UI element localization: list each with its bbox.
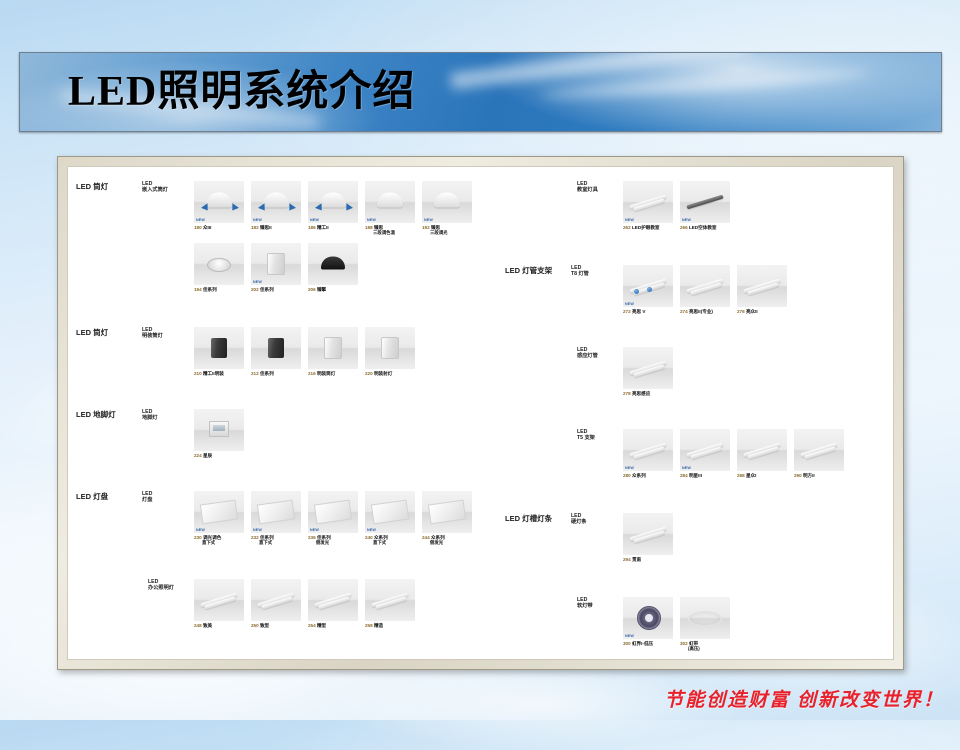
poster-frame: LED 筒灯LED嵌入式筒灯NEW180 众IIINEW182 臻思IINEW1… [57,156,904,670]
product-number: 278 [623,391,631,396]
group-header: LED 灯槽灯条LED硬灯条 [505,513,623,524]
product-thumbnail[interactable]: NEW [365,491,415,533]
product-cell[interactable]: NEW240 众系列直下式 [365,491,415,546]
subcategory-title: LED嵌入式筒灯 [142,181,168,193]
product-caption: 276 亮众II [737,309,787,314]
category-title: LED 筒灯 [76,181,194,192]
product-name: 精型 [317,623,326,628]
product-thumbnail[interactable]: NEW [680,429,730,471]
new-badge: NEW [682,466,691,470]
product-cell[interactable]: 210 精工II明装 [194,327,244,376]
product-row: 224 星辰 [194,409,244,458]
product-cell[interactable]: NEW192 臻思三段调光 [422,181,472,236]
product-name: 臻擎 [317,287,326,292]
category-title: LED 筒灯 [76,327,194,338]
product-thumbnail[interactable] [680,597,730,639]
product-row: 294 贯南 [623,513,673,562]
title-banner: LED照明系统介绍 [19,52,942,132]
group-header: LED 筒灯LED嵌入式筒灯 [76,181,194,192]
subcategory-line-2: T8 灯管 [571,271,589,277]
product-thumbnail[interactable] [194,579,244,621]
arrow-icon [286,203,296,213]
product-name: LED护眼教室 [632,225,660,230]
product-cell[interactable]: 244 众系列侧发光 [422,491,472,546]
poster-catalog: LED 筒灯LED嵌入式筒灯NEW180 众IIINEW182 臻思IINEW1… [67,166,894,660]
product-number: 266 [680,225,688,230]
product-name: 臻思II [260,225,272,230]
product-caption: 186 精工II [308,225,358,230]
product-caption: 266 LED空体教室 [680,225,730,230]
product-number: 188 [365,225,373,230]
product-number: 254 [308,623,316,628]
subcategory-line-2: 软灯带 [577,603,593,609]
product-name: 精工II明装 [203,371,224,376]
product-name: 明装筒灯 [317,371,335,376]
product-number: 186 [308,225,316,230]
product-number: 294 [623,557,631,562]
downlight-glyph [434,193,460,208]
product-thumbnail[interactable] [365,579,415,621]
product-number: 250 [251,623,259,628]
product-cell[interactable]: 278 亮思感应 [623,347,673,396]
product-cell[interactable]: 194 佳系列 [194,243,244,292]
product-name: 贯南 [632,557,641,562]
product-cell[interactable]: 250 致型 [251,579,301,628]
product-caption: 202 佳系列 [251,287,301,292]
category-title: LED 灯盘 [76,491,194,502]
product-caption-second-line: (高压) [688,646,730,651]
product-name: 众系列 [632,473,646,478]
group-header: LED 灯盘LED灯盘 [76,491,194,502]
product-thumbnail[interactable]: NEW [623,181,673,223]
product-caption: 224 星辰 [194,453,244,458]
product-thumbnail[interactable]: NEW [365,181,415,223]
product-number: 284 [680,473,688,478]
new-badge: NEW [253,280,262,284]
product-caption: 212 佳系列 [251,371,301,376]
reflector-glyph [207,258,231,272]
product-caption: 272 亮思 V [623,309,673,314]
product-caption-second-line: 侧发光 [430,540,472,545]
group-header: LED 筒灯LED明装筒灯 [76,327,194,338]
downlight-glyph [263,193,289,208]
product-thumbnail[interactable]: NEW [251,181,301,223]
product-caption-second-line: 三段调光 [430,230,472,235]
product-caption: 254 精型 [308,623,358,628]
subcategory-title: LED灯盘 [142,491,152,503]
product-number: 192 [422,225,430,230]
product-thumbnail[interactable] [422,491,472,533]
product-name: 致型 [260,623,269,628]
product-caption-second-line: 直下式 [373,540,415,545]
product-cell[interactable]: NEW262 LED护眼教室 [623,181,673,230]
product-row: NEW262 LED护眼教室NEW266 LED空体教室 [623,181,730,230]
tube-glyph [686,195,724,210]
subcategory-title: LED软灯带 [577,597,593,609]
product-caption: 250 致型 [251,623,301,628]
product-thumbnail[interactable]: NEW [623,265,673,307]
product-name: 虹界I-低压 [632,641,653,646]
product-thumbnail[interactable]: NEW [308,181,358,223]
step-light-glyph [209,421,229,437]
product-name: 佳系列 [260,371,274,376]
subcategory-line-2: T5 支架 [577,435,595,441]
product-name: 亮思II(专业) [689,309,713,314]
product-thumbnail[interactable] [194,409,244,451]
product-number: 210 [194,371,202,376]
product-caption-second-line: 侧发光 [316,540,358,545]
product-cell[interactable]: 224 星辰 [194,409,244,458]
product-caption-second-line: 直下式 [202,540,244,545]
product-thumbnail[interactable]: NEW [308,491,358,533]
product-number: 230 [194,535,202,540]
product-caption-second-line: 三段调色温 [373,230,415,235]
new-badge: NEW [625,466,634,470]
product-row: NEW272 亮思 V274 亮思II(专业)276 亮众II [623,265,787,314]
product-name: 亮思 V [632,309,646,314]
cloud-wisp-2 [540,68,870,101]
product-cell[interactable]: NEW232 佳系列直下式 [251,491,301,546]
product-number: 240 [365,535,373,540]
product-thumbnail[interactable] [794,429,844,471]
product-caption: 182 臻思II [251,225,301,230]
product-cell[interactable]: NEW236 佳系列侧发光 [308,491,358,546]
new-badge: NEW [367,528,376,532]
product-number: 194 [194,287,202,292]
product-name: 精工II [317,225,329,230]
product-name: 精造 [374,623,383,628]
product-row: 194 佳系列NEW202 佳系列206 臻擎 [194,243,358,292]
panel-glyph [428,500,466,525]
product-name: 明星III [689,473,702,478]
product-name: 众III [203,225,211,230]
cylinder-glyph [324,337,342,359]
product-name: 星辰 [203,453,212,458]
category-title: LED 灯管支架 [505,265,623,276]
product-row: NEW280 众系列NEW284 明星III288 星众I290 明方II [623,429,844,478]
product-number: 202 [251,287,259,292]
product-caption: 294 贯南 [623,557,673,562]
product-cell[interactable]: 290 明方II [794,429,844,478]
product-caption: 206 臻擎 [308,287,358,292]
product-row: NEW230 调光调色直下式NEW232 佳系列直下式NEW236 佳系列侧发光… [194,491,472,546]
group-header: LED 地脚灯LED地脚灯 [76,409,194,420]
product-thumbnail[interactable]: NEW [680,181,730,223]
product-thumbnail[interactable] [251,579,301,621]
product-caption-second-line: 直下式 [259,540,301,545]
product-number: 206 [308,287,316,292]
new-badge: NEW [310,528,319,532]
product-caption: 216 明装筒灯 [308,371,358,376]
cylinder-glyph [268,338,284,358]
product-cell[interactable]: NEW180 众III [194,181,244,236]
subcategory-line-2: 感应灯管 [577,353,598,359]
product-caption: 258 精造 [365,623,415,628]
product-cell[interactable]: NEW284 明星III [680,429,730,478]
product-cell[interactable]: 254 精型 [308,579,358,628]
product-thumbnail[interactable] [194,243,244,285]
product-number: 290 [794,473,802,478]
product-name: 亮众II [746,309,758,314]
product-thumbnail[interactable] [251,327,301,369]
product-thumbnail[interactable] [308,243,358,285]
product-caption: 300 虹界I-低压 [623,641,673,646]
product-cell[interactable]: 302 虹带(高压) [680,597,730,652]
subcategory-line-2: 办公照明灯 [148,585,174,591]
product-caption: 194 佳系列 [194,287,244,292]
new-badge: NEW [253,528,262,532]
arrow-icon [229,203,239,213]
product-number: 274 [680,309,688,314]
product-row: NEW180 众IIINEW182 臻思IINEW186 精工IINEW188 … [194,181,472,236]
product-thumbnail[interactable] [194,327,244,369]
product-row: 210 精工II明装212 佳系列216 明装筒灯220 明装射灯 [194,327,415,376]
new-badge: NEW [682,218,691,222]
subcategory-title: LED教室灯具 [577,181,598,193]
product-number: 182 [251,225,259,230]
product-cell[interactable]: NEW182 臻思II [251,181,301,236]
product-number: 216 [308,371,316,376]
product-cell[interactable]: NEW300 虹界I-低压 [623,597,673,652]
product-cell[interactable]: NEW272 亮思 V [623,265,673,314]
subcategory-line-2: 硬灯条 [571,519,587,525]
product-row: 248 致美250 致型254 精型258 精造 [194,579,415,628]
cylinder-glyph [381,337,399,359]
product-cell[interactable]: NEW186 精工II [308,181,358,236]
product-caption: 262 LED护眼教室 [623,225,673,230]
new-badge: NEW [253,218,262,222]
product-thumbnail[interactable] [623,347,673,389]
product-number: 302 [680,641,688,646]
product-name: LED空体教室 [689,225,717,230]
product-cell[interactable]: 294 贯南 [623,513,673,562]
product-cell[interactable]: NEW202 佳系列 [251,243,301,292]
new-badge: NEW [310,218,319,222]
downlight-glyph [320,193,346,208]
product-cell[interactable]: 216 明装筒灯 [308,327,358,376]
category-title: LED 灯槽灯条 [505,513,623,524]
group-header: LED 灯管支架LEDT8 灯管 [505,265,623,276]
panel-glyph [200,500,238,525]
subcategory-title: LEDT5 支架 [577,429,595,441]
panel-glyph [314,500,352,525]
product-row: NEW300 虹界I-低压302 虹带(高压) [623,597,730,652]
panel-glyph [371,500,409,525]
downlight-glyph [377,193,403,208]
product-number: 244 [422,535,430,540]
product-name: 致美 [203,623,212,628]
subcategory-title: LED明装筒灯 [142,327,163,339]
product-caption: 220 明装射灯 [365,371,415,376]
arrow-icon [343,203,353,213]
product-thumbnail[interactable]: NEW [251,243,301,285]
product-cell[interactable]: 288 星众I [737,429,787,478]
product-name: 明装射灯 [374,371,392,376]
product-cell[interactable]: 258 精造 [365,579,415,628]
product-thumbnail[interactable]: NEW [422,181,472,223]
downlight-glyph [206,193,232,208]
subcategory-line-2: 明装筒灯 [142,333,163,339]
product-number: 236 [308,535,316,540]
cylinder-glyph [267,253,285,275]
product-row: 278 亮思感应 [623,347,673,396]
subcategory-title: LED办公照明灯 [148,579,174,591]
product-caption: 248 致美 [194,623,244,628]
new-badge: NEW [367,218,376,222]
product-caption: 278 亮思感应 [623,391,673,396]
product-cell[interactable]: 276 亮众II [737,265,787,314]
product-thumbnail[interactable]: NEW [623,597,673,639]
product-caption: 288 星众I [737,473,787,478]
product-number: 220 [365,371,373,376]
product-thumbnail[interactable] [680,265,730,307]
new-badge: NEW [625,634,634,638]
product-thumbnail[interactable] [308,327,358,369]
product-number: 300 [623,641,631,646]
subcategory-line-2: 地脚灯 [142,415,158,421]
footer-slogan: 节能创造财富 创新改变世界！ [664,685,944,712]
product-name: 亮思感应 [632,391,650,396]
new-badge: NEW [625,302,634,306]
product-thumbnail[interactable] [365,327,415,369]
product-number: 276 [737,309,745,314]
product-thumbnail[interactable]: NEW [623,429,673,471]
product-number: 212 [251,371,259,376]
product-cell[interactable]: 248 致美 [194,579,244,628]
product-number: 262 [623,225,631,230]
subcategory-line-2: 嵌入式筒灯 [142,187,168,193]
product-cell[interactable]: NEW280 众系列 [623,429,673,478]
product-cell[interactable]: 274 亮思II(专业) [680,265,730,314]
product-cell[interactable]: NEW188 臻思三段调色温 [365,181,415,236]
product-number: 272 [623,309,631,314]
new-badge: NEW [424,218,433,222]
led-strip-reel-glyph [637,606,661,630]
product-thumbnail[interactable]: NEW [194,491,244,533]
category-title: LED 地脚灯 [76,409,194,420]
subcategory-title: LED地脚灯 [142,409,158,421]
new-badge: NEW [196,528,205,532]
product-thumbnail[interactable] [623,513,673,555]
product-thumbnail[interactable] [737,429,787,471]
page-title: LED照明系统介绍 [68,61,415,123]
dark-downlight-glyph [321,257,345,270]
product-thumbnail[interactable] [308,579,358,621]
product-cell[interactable]: 212 佳系列 [251,327,301,376]
led-strip-loop-glyph [688,611,722,627]
product-caption: 284 明星III [680,473,730,478]
product-number: 232 [251,535,259,540]
product-thumbnail[interactable]: NEW [194,181,244,223]
new-badge: NEW [196,218,205,222]
product-cell[interactable]: 220 明装射灯 [365,327,415,376]
product-caption: 280 众系列 [623,473,673,478]
product-name: 星众I [746,473,756,478]
cylinder-glyph [211,338,227,358]
subcategory-title: LED感应灯管 [577,347,598,359]
connector-icon [647,287,652,292]
product-caption: 274 亮思II(专业) [680,309,730,314]
product-caption: 210 精工II明装 [194,371,244,376]
product-number: 248 [194,623,202,628]
product-name: 佳系列 [260,287,274,292]
product-number: 224 [194,453,202,458]
new-badge: NEW [625,218,634,222]
product-number: 280 [623,473,631,478]
product-cell[interactable]: NEW230 调光调色直下式 [194,491,244,546]
product-name: 明方II [803,473,815,478]
subcategory-line-2: 教室灯具 [577,187,598,193]
panel-glyph [257,500,295,525]
product-caption: 290 明方II [794,473,844,478]
connector-icon [634,289,639,294]
subcategory-title: LED硬灯条 [571,513,587,525]
product-cell[interactable]: NEW266 LED空体教室 [680,181,730,230]
subcategory-line-2: 灯盘 [142,497,152,503]
product-cell[interactable]: 206 臻擎 [308,243,358,292]
product-thumbnail[interactable] [737,265,787,307]
product-number: 258 [365,623,373,628]
product-name: 佳系列 [203,287,217,292]
product-caption: 180 众III [194,225,244,230]
product-thumbnail[interactable]: NEW [251,491,301,533]
product-number: 180 [194,225,202,230]
product-number: 288 [737,473,745,478]
subcategory-title: LEDT8 灯管 [571,265,589,277]
